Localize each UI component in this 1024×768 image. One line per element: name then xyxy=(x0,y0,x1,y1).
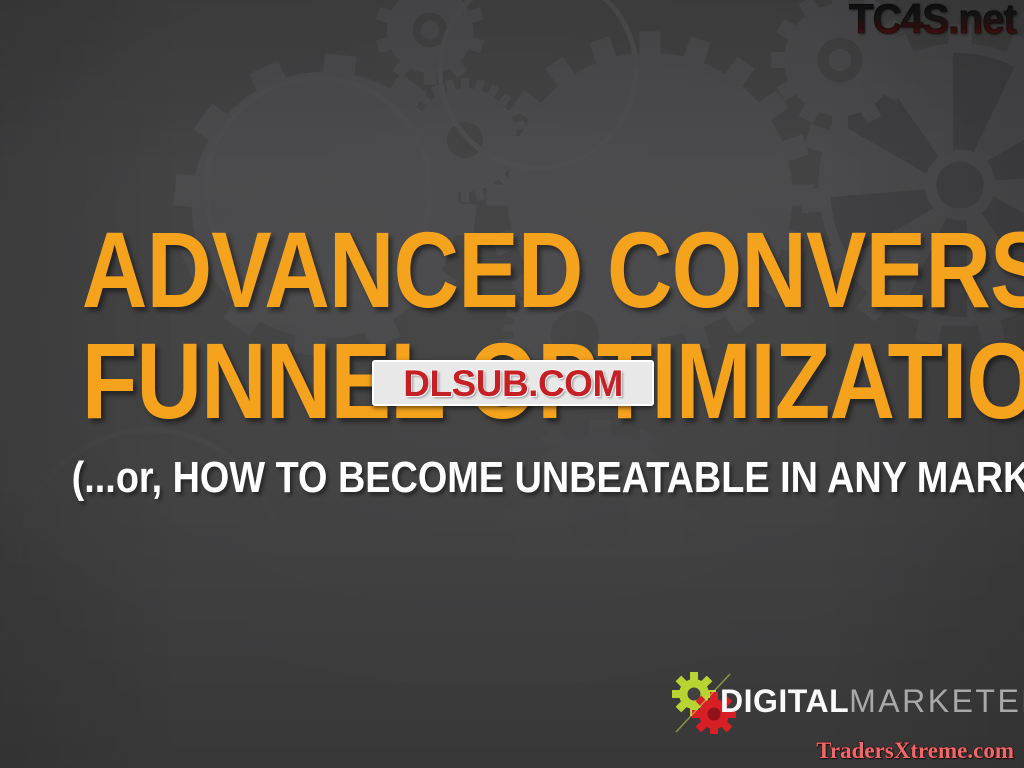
dlsub-watermark-text: DLSUB.COM xyxy=(403,365,623,402)
presentation-slide: ADVANCED CONVERSION FUNNEL OPTIMIZATION … xyxy=(0,0,1024,768)
digitalmarketer-logo: DIGITALMARKETER xyxy=(668,672,1018,728)
tradersxtreme-watermark-text: TradersXtreme.com xyxy=(816,739,1014,762)
headline-subtitle: (...or, HOW TO BECOME UNBEATABLE IN ANY … xyxy=(72,456,953,500)
logo-wordmark: DIGITALMARKETER xyxy=(720,685,1024,717)
headline-block: ADVANCED CONVERSION FUNNEL OPTIMIZATION … xyxy=(0,218,1024,500)
dlsub-watermark-stamp: DLSUB.COM xyxy=(372,360,654,406)
logo-word-marketer: MARKETER xyxy=(849,683,1024,719)
logo-word-digital: DIGITAL xyxy=(720,683,849,719)
tc4s-watermark-text: TC4S.net xyxy=(849,0,1016,40)
headline-line-1: ADVANCED CONVERSION xyxy=(82,218,942,323)
